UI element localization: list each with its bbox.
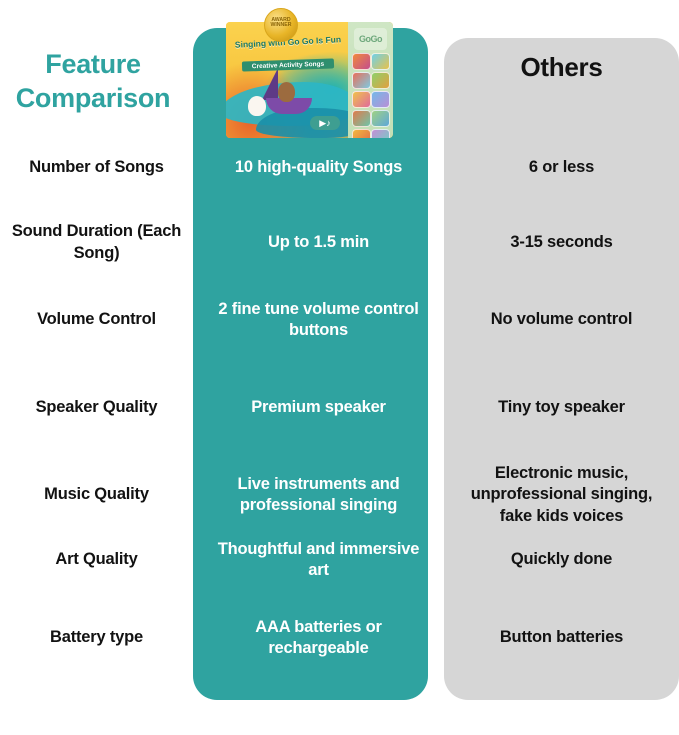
product-book-image: Singing with Go Go Is Fun Creative Activ…: [226, 8, 393, 138]
character-bunny: [248, 96, 266, 116]
feature-label: Sound Duration (Each Song): [0, 215, 193, 270]
award-seal-icon: AWARD WINNER: [264, 8, 298, 42]
speaker-icon: ▶︎♪: [310, 116, 340, 130]
product-value: 10 high-quality Songs: [193, 140, 444, 195]
sound-button[interactable]: [371, 129, 390, 138]
sound-button-grid: [352, 53, 390, 138]
sound-button[interactable]: [352, 72, 371, 89]
others-value: No volume control: [444, 290, 679, 350]
book-cover-subtitle: Creative Activity Songs: [242, 58, 334, 71]
feature-label: Music Quality: [0, 450, 193, 540]
table-row: Battery type AAA batteries or rechargeab…: [0, 608, 679, 668]
sound-button[interactable]: [352, 91, 371, 108]
others-value: Button batteries: [444, 608, 679, 668]
product-value: AAA batteries or rechargeable: [193, 608, 444, 668]
gogo-logo: GoGo: [354, 28, 387, 50]
feature-label: Speaker Quality: [0, 382, 193, 434]
table-row: Speaker Quality Premium speaker Tiny toy…: [0, 382, 679, 434]
sound-button[interactable]: [371, 53, 390, 70]
table-row: Music Quality Live instruments and profe…: [0, 450, 679, 540]
sound-button[interactable]: [371, 91, 390, 108]
others-value: 3-15 seconds: [444, 215, 679, 270]
book-body: Singing with Go Go Is Fun Creative Activ…: [226, 22, 393, 138]
page-title: Feature Comparison: [0, 48, 186, 116]
feature-label: Number of Songs: [0, 140, 193, 195]
others-column-panel: [444, 38, 679, 700]
product-value: 2 fine tune volume control buttons: [193, 290, 444, 350]
table-row: Volume Control 2 fine tune volume contro…: [0, 290, 679, 350]
sound-button[interactable]: [371, 72, 390, 89]
feature-label: Art Quality: [0, 532, 193, 588]
table-row: Sound Duration (Each Song) Up to 1.5 min…: [0, 215, 679, 270]
others-column-title: Others: [444, 52, 679, 83]
feature-label: Battery type: [0, 608, 193, 668]
others-value: Tiny toy speaker: [444, 382, 679, 434]
table-row: Number of Songs 10 high-quality Songs 6 …: [0, 140, 679, 195]
others-value: 6 or less: [444, 140, 679, 195]
sound-button[interactable]: [371, 110, 390, 127]
character-gogo: [278, 82, 295, 102]
product-value: Thoughtful and immersive art: [193, 532, 444, 588]
sound-button[interactable]: [352, 129, 371, 138]
sound-button[interactable]: [352, 110, 371, 127]
feature-label: Volume Control: [0, 290, 193, 350]
table-row: Art Quality Thoughtful and immersive art…: [0, 532, 679, 588]
others-value: Quickly done: [444, 532, 679, 588]
sound-button[interactable]: [352, 53, 371, 70]
sail-shape: [262, 68, 278, 100]
product-value: Up to 1.5 min: [193, 215, 444, 270]
product-value: Live instruments and professional singin…: [193, 450, 444, 540]
others-value: Electronic music, unprofessional singing…: [444, 450, 679, 540]
sound-button-panel: GoGo: [348, 22, 393, 138]
product-value: Premium speaker: [193, 382, 444, 434]
